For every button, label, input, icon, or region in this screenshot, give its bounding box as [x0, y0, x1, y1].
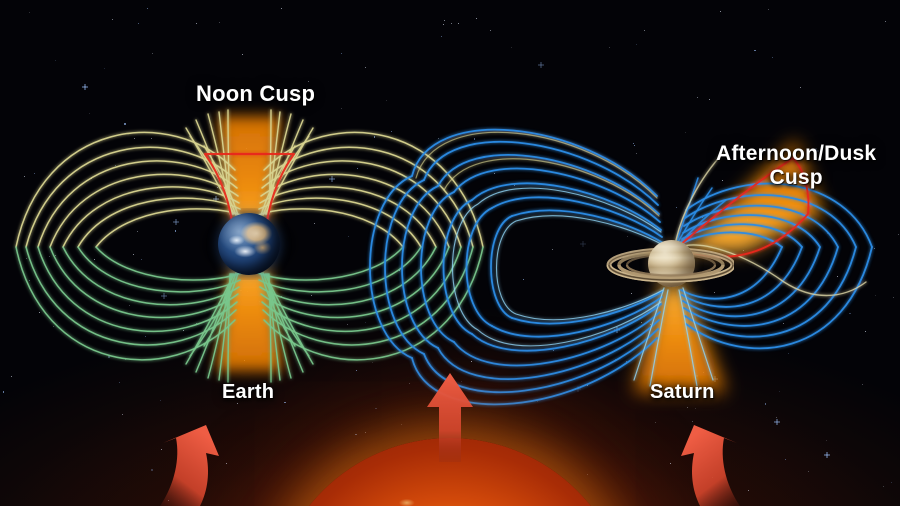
star [374, 136, 375, 137]
star [697, 97, 698, 98]
star [112, 19, 113, 20]
star [827, 233, 828, 234]
star [151, 138, 152, 139]
star [893, 297, 894, 298]
star [226, 463, 227, 464]
star [765, 403, 766, 404]
star [692, 421, 693, 422]
star [246, 148, 247, 149]
star [125, 359, 126, 360]
star [357, 168, 358, 169]
star [891, 482, 892, 483]
star [365, 67, 366, 68]
star [137, 231, 138, 232]
magnetosphere-diagram: Noon Cusp Afternoon/Dusk Cusp Earth Satu… [0, 0, 900, 506]
star [24, 176, 25, 177]
star [217, 187, 218, 188]
star [540, 64, 542, 66]
star [89, 113, 90, 114]
star [244, 360, 245, 361]
saturn-rings-front [606, 232, 734, 302]
star [747, 219, 748, 220]
star [281, 8, 282, 9]
star [676, 207, 677, 208]
star [898, 234, 899, 235]
star [34, 173, 35, 174]
star [650, 324, 651, 325]
star [636, 153, 637, 154]
noon-cusp-label: Noon Cusp [196, 81, 315, 106]
star [141, 259, 142, 260]
star [183, 330, 184, 331]
star [703, 372, 704, 373]
star [494, 173, 495, 174]
star [458, 23, 459, 24]
star [311, 295, 312, 296]
star [196, 323, 197, 324]
star [875, 295, 876, 296]
star [55, 60, 56, 61]
star [372, 362, 373, 363]
star [587, 474, 588, 475]
star [355, 434, 356, 435]
star [688, 229, 689, 230]
star [712, 477, 713, 478]
star [743, 250, 744, 251]
star [633, 202, 634, 203]
star [147, 8, 148, 9]
starfield [0, 0, 900, 506]
star [391, 131, 392, 132]
star [501, 392, 502, 393]
star [754, 50, 755, 51]
star [776, 421, 778, 423]
star [375, 408, 376, 409]
star [476, 18, 477, 19]
star [696, 375, 697, 376]
star [800, 87, 801, 88]
star [865, 331, 866, 332]
star [53, 326, 54, 327]
star [3, 391, 4, 392]
star [537, 401, 538, 402]
star [634, 145, 635, 146]
star [133, 254, 134, 255]
star [441, 36, 442, 37]
star [145, 336, 146, 337]
star [49, 256, 50, 257]
star [783, 323, 784, 324]
star [641, 322, 642, 323]
star [471, 361, 472, 362]
star [314, 223, 315, 224]
star [196, 23, 197, 24]
star [474, 138, 475, 139]
star [115, 165, 116, 166]
star [234, 190, 235, 191]
star [772, 57, 773, 58]
star [626, 361, 627, 362]
star [163, 295, 165, 297]
star [615, 359, 616, 360]
star [26, 258, 27, 259]
star [490, 30, 491, 31]
star [720, 11, 721, 12]
star [151, 469, 152, 470]
star [124, 123, 125, 124]
star [687, 407, 688, 408]
star [401, 424, 402, 425]
star [119, 382, 120, 383]
star [259, 301, 260, 302]
star [399, 270, 400, 271]
star [29, 280, 30, 281]
star [152, 53, 153, 54]
star [215, 198, 217, 200]
saturn-planet [606, 232, 734, 302]
star [219, 22, 220, 23]
star [451, 23, 452, 24]
star [788, 353, 789, 354]
star [514, 185, 515, 186]
star [609, 47, 610, 48]
star [365, 322, 366, 323]
star [612, 331, 613, 332]
star [670, 463, 671, 464]
star [553, 350, 554, 351]
star [459, 413, 460, 414]
star [461, 381, 462, 382]
star [511, 47, 512, 48]
star [331, 178, 333, 180]
star [161, 449, 162, 450]
star [104, 68, 105, 69]
star [94, 259, 95, 260]
star [808, 471, 809, 472]
earth-planet [218, 213, 280, 275]
star [874, 248, 875, 249]
star [689, 308, 690, 309]
star [175, 221, 177, 223]
star [284, 402, 285, 403]
star [849, 313, 850, 314]
star [826, 440, 827, 441]
star [175, 230, 176, 231]
star [341, 53, 342, 54]
star [695, 408, 696, 409]
star [138, 23, 139, 24]
star [55, 255, 56, 256]
saturn-label: Saturn [650, 381, 715, 404]
star [409, 383, 410, 384]
star [702, 217, 703, 218]
star [582, 243, 584, 245]
star [386, 100, 387, 101]
star [746, 303, 747, 304]
star [644, 30, 645, 31]
star [577, 388, 579, 390]
star [240, 290, 241, 291]
star [636, 44, 637, 45]
afternoon-dusk-cusp-label: Afternoon/Dusk Cusp [716, 142, 876, 190]
star [443, 24, 444, 25]
star [748, 490, 749, 491]
star [862, 384, 863, 385]
star [587, 385, 588, 386]
star [356, 370, 357, 371]
star [621, 168, 622, 169]
star [365, 432, 366, 433]
earth-label: Earth [222, 381, 274, 404]
star [168, 500, 169, 501]
star [785, 459, 786, 460]
star [552, 249, 553, 250]
star [438, 138, 439, 139]
star [837, 276, 838, 277]
star [242, 54, 243, 55]
star [776, 417, 777, 418]
star [11, 376, 12, 377]
star [885, 21, 886, 22]
star [685, 132, 686, 133]
star [768, 9, 769, 10]
star [134, 138, 135, 139]
star [160, 400, 161, 401]
star [633, 143, 634, 144]
star [281, 296, 282, 297]
star [714, 378, 716, 380]
star [523, 279, 524, 280]
star [883, 486, 884, 487]
star [688, 305, 689, 306]
star [29, 12, 30, 13]
star [616, 329, 618, 331]
star [84, 86, 86, 88]
star [39, 312, 40, 313]
star [247, 291, 248, 292]
star [341, 108, 342, 109]
star [441, 279, 442, 280]
star [826, 454, 828, 456]
star [348, 236, 349, 237]
star [347, 324, 348, 325]
star [129, 305, 130, 306]
star [779, 391, 780, 392]
star [91, 178, 92, 179]
star [108, 356, 109, 357]
star [444, 20, 445, 21]
star [655, 422, 656, 423]
star [122, 414, 123, 415]
star [709, 99, 710, 100]
star [750, 232, 751, 233]
